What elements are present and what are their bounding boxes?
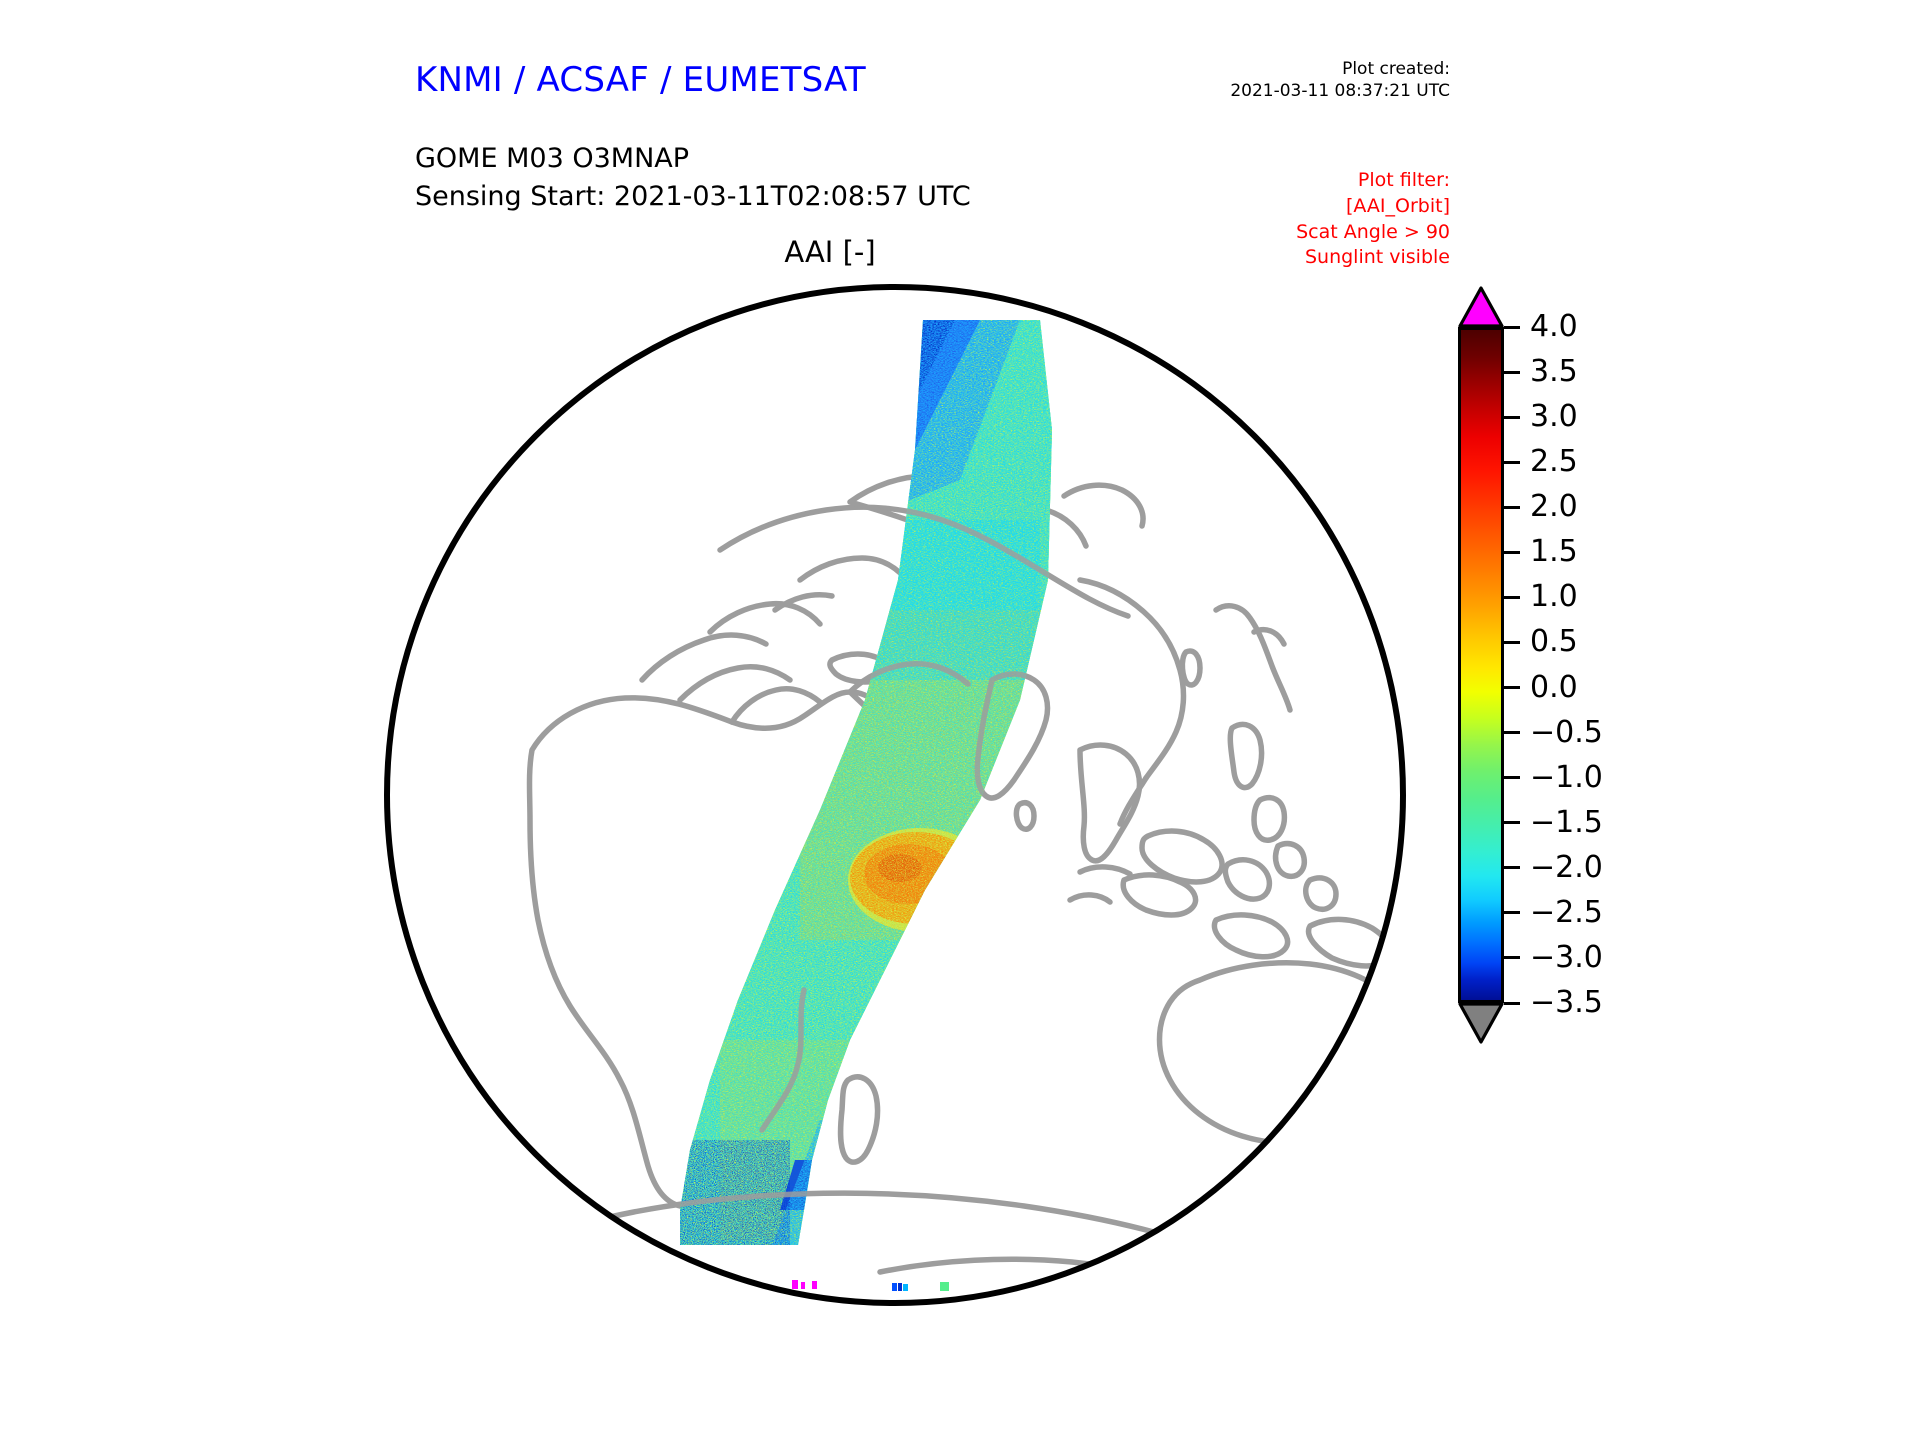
colorbar-tick-label: 2.0 [1530,492,1578,522]
plot-filter-name: [AAI_Orbit] [1150,194,1450,220]
colorbar-tick-label: 4.0 [1530,312,1578,342]
quantity-title: AAI [-] [620,235,1040,269]
colorbar-tick-mark [1504,641,1520,644]
colorbar-tick-mark [1504,686,1520,689]
product-info-block: GOME M03 O3MNAP Sensing Start: 2021-03-1… [415,140,971,217]
plot-filter-label: Plot filter: [1150,168,1450,194]
colorbar-tick-mark [1504,731,1520,734]
colorbar-tick-mark [1504,821,1520,824]
colorbar-tick-mark [1504,326,1520,329]
plot-created-block: Plot created: 2021-03-11 08:37:21 UTC [1100,58,1450,103]
colorbar-tick-mark [1504,1002,1520,1005]
colorbar-tick-mark [1504,461,1520,464]
colorbar-tick-mark [1504,506,1520,509]
plot-filter-scat-angle: Scat Angle > 90 [1150,220,1450,246]
colorbar-tick-mark [1504,866,1520,869]
colorbar-tick-label: −3.0 [1530,943,1603,973]
colorbar-tick-label: −2.5 [1530,898,1603,928]
colorbar-tick-mark [1504,596,1520,599]
colorbar-tick-label: −2.0 [1530,853,1603,883]
colorbar-over-arrow [1458,286,1504,328]
map-panel [380,280,1410,1310]
colorbar-tick-mark [1504,551,1520,554]
organisation-title: KNMI / ACSAF / EUMETSAT [415,60,866,100]
colorbar-tick-mark [1504,911,1520,914]
product-name: GOME M03 O3MNAP [415,140,971,178]
colorbar-tick-label: 1.0 [1530,582,1578,612]
colorbar-tick-label: −3.5 [1530,988,1603,1018]
colorbar-tick-mark [1504,956,1520,959]
colorbar-under-arrow [1458,1002,1504,1044]
sensing-start: Sensing Start: 2021-03-11T02:08:57 UTC [415,178,971,216]
plot-created-label: Plot created: [1100,58,1450,80]
colorbar-tick-mark [1504,776,1520,779]
colorbar-gradient [1458,327,1504,1003]
colorbar-tick-label: −1.5 [1530,808,1603,838]
colorbar-tick-label: 2.5 [1530,447,1578,477]
colorbar-tick-label: 3.0 [1530,402,1578,432]
colorbar-tick-mark [1504,371,1520,374]
colorbar-tick-label: 1.5 [1530,537,1578,567]
colorbar: 4.03.53.02.52.01.51.00.50.0−0.5−1.0−1.5−… [1448,286,1778,1076]
plot-filter-sunglint: Sunglint visible [1150,245,1450,271]
colorbar-tick-label: 3.5 [1530,357,1578,387]
plot-created-timestamp: 2021-03-11 08:37:21 UTC [1100,80,1450,102]
orthographic-globe [380,280,1410,1310]
colorbar-tick-label: 0.0 [1530,673,1578,703]
colorbar-tick-label: −0.5 [1530,718,1603,748]
colorbar-tick-mark [1504,416,1520,419]
plot-filter-block: Plot filter: [AAI_Orbit] Scat Angle > 90… [1150,168,1450,271]
colorbar-tick-label: 0.5 [1530,627,1578,657]
colorbar-tick-label: −1.0 [1530,763,1603,793]
